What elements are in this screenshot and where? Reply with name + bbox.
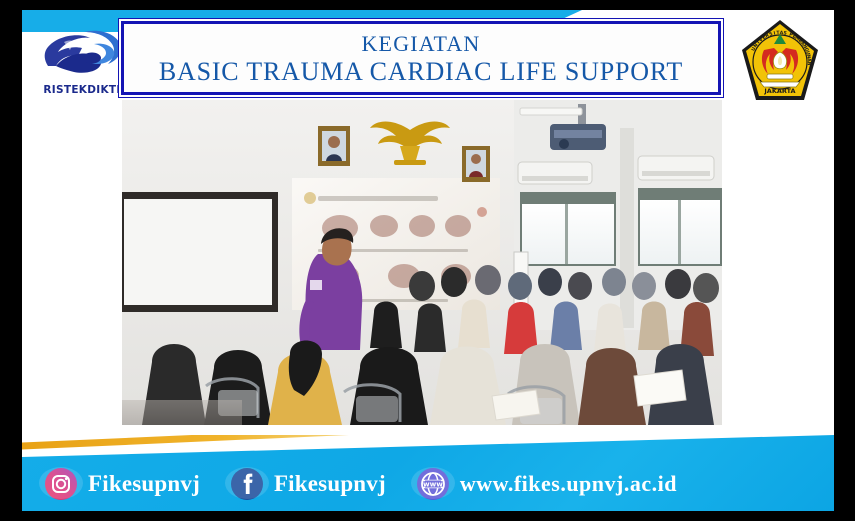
instagram-icon-halo <box>39 467 83 499</box>
upn-bottom-text: JAKARTA <box>763 87 795 95</box>
social-links-row: Fikesupnvj Fikesupnvj <box>22 462 834 506</box>
poster-root: RISTEKDIKTI KEGIATAN BASIC TRAUMA CARDIA… <box>0 0 855 521</box>
page-title-line2: BASIC TRAUMA CARDIAC LIFE SUPPORT <box>159 57 683 87</box>
upn-veteran-jakarta-logo: JAKARTA U N I V E R S I T A S P E M B <box>734 16 826 112</box>
page-title-line1: KEGIATAN <box>361 31 480 56</box>
vice-president-portrait <box>462 146 490 182</box>
svg-text:N: N <box>806 61 812 65</box>
instagram-icon[interactable] <box>44 467 78 501</box>
facebook-handle: Fikesupnvj <box>274 471 386 497</box>
ristekdikti-mark-icon <box>34 22 126 88</box>
event-photo <box>122 100 722 425</box>
website-url: www.fikes.upnvj.ac.id <box>460 471 677 497</box>
website-icon-halo <box>411 467 455 499</box>
president-portrait <box>318 126 350 166</box>
title-inner-frame: KEGIATAN BASIC TRAUMA CARDIAC LIFE SUPPO… <box>121 21 721 95</box>
footer-bar: Fikesupnvj Fikesupnvj <box>22 435 834 511</box>
facebook-icon[interactable] <box>230 467 264 501</box>
upn-shield-icon: JAKARTA U N I V E R S I T A S P E M B <box>734 16 826 112</box>
classroom-photo-illustration <box>122 100 722 425</box>
title-box: KEGIATAN BASIC TRAUMA CARDIAC LIFE SUPPO… <box>118 18 724 98</box>
ristekdikti-logo: RISTEKDIKTI <box>34 22 126 102</box>
facebook-link[interactable]: Fikesupnvj <box>230 467 386 501</box>
website-globe-icon[interactable]: www <box>416 467 450 501</box>
poster-card: RISTEKDIKTI KEGIATAN BASIC TRAUMA CARDIA… <box>22 10 834 511</box>
facebook-icon-halo <box>225 467 269 499</box>
instagram-link[interactable]: Fikesupnvj <box>44 467 200 501</box>
website-link[interactable]: www www.fikes.upnvj.ac.id <box>416 467 677 501</box>
instagram-handle: Fikesupnvj <box>88 471 200 497</box>
ristekdikti-wordmark: RISTEKDIKTI <box>42 84 122 96</box>
